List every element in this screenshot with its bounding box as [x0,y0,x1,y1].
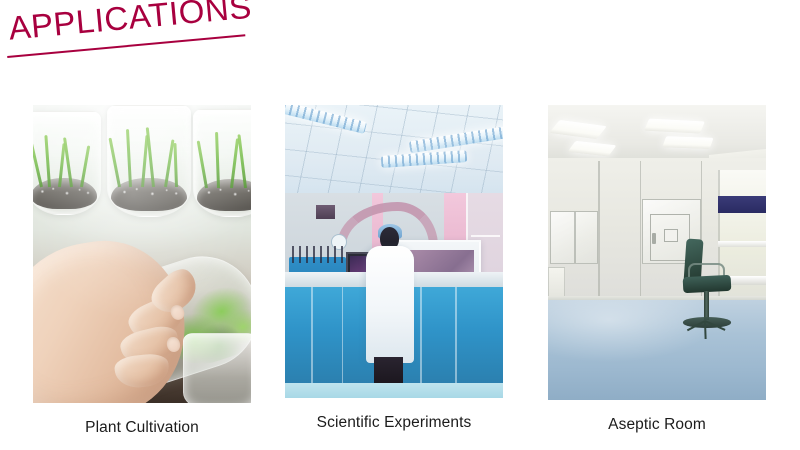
cabinet-seam [342,287,344,387]
seedling-blade [108,138,120,188]
ceiling-light [662,137,713,149]
wall-control-box [316,205,336,220]
photo-aseptic-room [548,105,766,400]
hood-shelf [718,241,766,247]
door-viewing-window [664,229,678,242]
wall-cabinet [550,211,598,264]
chair-gas-post [704,291,709,321]
page-title-group: APPLICATIONS [3,0,268,74]
laboratory-floor [285,383,503,398]
jar-condensation [115,183,184,201]
floor-reflection [548,300,766,400]
application-cards: Plant Cultivation [0,105,800,450]
card-caption: Scientific Experiments [285,414,503,432]
seedling-blade [196,141,207,189]
seedling-blade [126,129,132,187]
application-card-plant-cultivation[interactable]: Plant Cultivation [33,105,251,437]
card-caption: Aseptic Room [548,416,766,434]
application-card-scientific-experiments[interactable]: Scientific Experiments [285,105,503,432]
hood-blue-band [718,196,766,212]
culture-jar [33,111,101,215]
seedling-blade [33,142,42,187]
applications-slide: APPLICATIONS [0,0,800,450]
culture-jar [193,109,251,217]
photo-plant-cultivation [33,105,251,403]
cabinet-seam [311,287,313,387]
background-jar [183,333,251,403]
researcher-lab-coat [366,246,414,363]
cabinet-seam [455,287,457,387]
wall-seam [640,161,641,300]
door-handle [652,233,655,244]
test-tubes [292,246,347,264]
photo-scientific-experiments [285,105,503,398]
culture-jar [107,105,191,217]
seedling-blade [174,143,179,187]
cabinet-seam [420,287,422,387]
application-card-aseptic-room[interactable]: Aseptic Room [548,105,766,434]
wall-seam [598,161,599,300]
card-caption: Plant Cultivation [33,419,251,437]
